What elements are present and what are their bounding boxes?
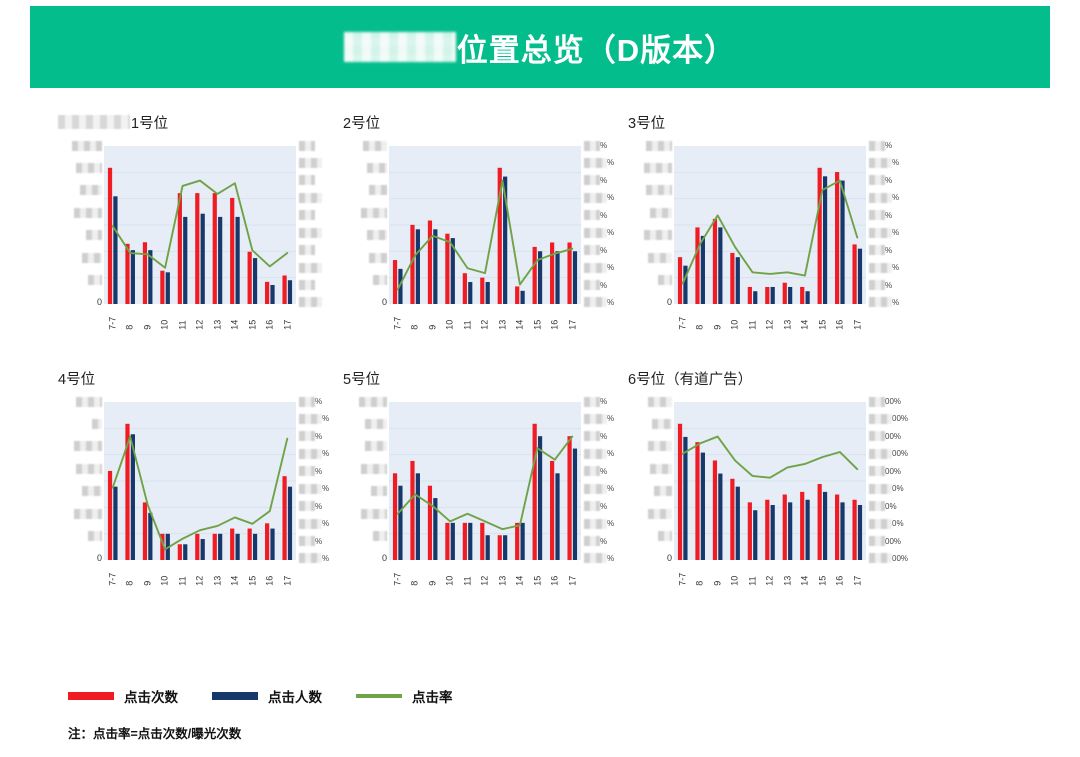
y-axis-left-pos2: 0 [343, 140, 387, 308]
chart-card-pos3: 3号位 0 %%%%%%%%%% 7-7891011121314151617 [628, 112, 913, 340]
redacted-mask [299, 484, 322, 494]
y-tick-redacted [76, 396, 102, 407]
y-tick-right-redacted: % [869, 210, 892, 221]
y-tick-redacted [74, 207, 102, 218]
y-tick-redacted [361, 207, 387, 218]
redacted-mask [646, 185, 672, 195]
y-tick-right-suffix: 00% [892, 553, 908, 564]
y-tick-right-suffix: % [600, 536, 607, 547]
y-tick-right-redacted: % [584, 483, 614, 494]
legend-swatch-rate [356, 694, 402, 698]
y-tick-right-redacted: % [584, 553, 614, 564]
x-tick-label: 17 [840, 570, 874, 587]
y-tick-right-suffix: 00% [892, 448, 908, 459]
y-tick-right-suffix: % [607, 553, 614, 564]
y-tick-right-suffix: 0% [885, 501, 897, 512]
y-tick-right-suffix: 00% [885, 431, 901, 442]
y-axis-right-pos5: %%%%%%%%%% [584, 396, 628, 564]
redacted-title-prefix [344, 32, 456, 62]
redacted-mask [584, 484, 607, 494]
redacted-mask [869, 484, 892, 494]
redacted-mask [80, 185, 102, 195]
legend-label-rate: 点击率 [412, 686, 453, 706]
redacted-mask [584, 414, 607, 424]
y-tick-right-redacted: 00% [869, 448, 908, 459]
chart-title-pos2-text: 2号位 [343, 112, 380, 133]
y-tick-right-suffix: % [322, 448, 329, 459]
y-tick-right-suffix: % [600, 210, 607, 221]
redacted-mask [584, 263, 607, 273]
redacted-mask [869, 449, 892, 459]
y-tick-redacted [658, 531, 672, 542]
redacted-mask [869, 466, 885, 476]
y-tick-redacted [652, 418, 672, 429]
y-tick-right-suffix: 0% [892, 518, 904, 529]
y-tick-right-redacted: % [584, 396, 607, 407]
redacted-mask [369, 185, 387, 195]
redacted-mask [869, 297, 892, 307]
y-tick-right-redacted: % [584, 227, 614, 238]
charts-grid: 1号位 0 7-7891011121314151617 2号位 0 %%%%%%… [58, 112, 1018, 596]
redacted-mask [584, 431, 600, 441]
y-tick-right-redacted: % [584, 140, 607, 151]
y-tick-right-redacted [299, 245, 315, 256]
y-tick-right-suffix: % [322, 413, 329, 424]
redacted-mask [869, 245, 885, 255]
redacted-mask [367, 230, 387, 240]
chart-title-pos1: 1号位 [58, 112, 343, 132]
redacted-mask [359, 397, 387, 407]
redacted-mask [299, 553, 322, 563]
chart-card-pos6: 6号位（有道广告） 0 00%00%00%00%00%0%0%0%00%00% … [628, 368, 913, 596]
redacted-mask [584, 397, 600, 407]
plot-area-pos3 [674, 146, 866, 304]
y-tick-right-redacted: 00% [869, 536, 901, 547]
redacted-mask [869, 519, 892, 529]
redacted-mask [361, 509, 387, 519]
y-tick-right-redacted: % [299, 553, 329, 564]
redacted-mask [648, 441, 672, 451]
y-tick-zero: 0 [97, 297, 102, 308]
y-tick-zero: 0 [382, 297, 387, 308]
y-tick-redacted [644, 230, 672, 241]
legend-item-users: 点击人数 [212, 686, 322, 706]
redacted-mask [373, 531, 387, 541]
chart-card-pos1: 1号位 0 7-7891011121314151617 [58, 112, 343, 340]
redacted-mask [584, 501, 600, 511]
y-tick-redacted [92, 418, 102, 429]
x-axis-pos1: 7-7891011121314151617 [104, 306, 296, 340]
y-tick-right-suffix: % [600, 501, 607, 512]
chart-title-pos4-text: 4号位 [58, 368, 95, 389]
redacted-mask [92, 419, 102, 429]
y-tick-right-suffix: % [885, 210, 892, 221]
redacted-mask [869, 141, 885, 151]
footnote: 注：点击率=点击次数/曝光次数 [68, 723, 241, 742]
y-tick-right-suffix: % [607, 262, 614, 273]
redacted-mask [584, 449, 607, 459]
y-tick-right-suffix: % [885, 140, 892, 151]
y-tick-redacted [367, 162, 387, 173]
y-tick-right-redacted: 00% [869, 431, 901, 442]
y-axis-right-pos6: 00%00%00%00%00%0%0%0%00%00% [869, 396, 913, 564]
y-axis-left-pos3: 0 [628, 140, 672, 308]
y-tick-redacted [646, 140, 672, 151]
y-tick-right-redacted: % [584, 175, 607, 186]
y-tick-right-suffix: % [892, 297, 899, 308]
y-tick-right-suffix: 00% [885, 466, 901, 477]
redacted-mask [299, 414, 322, 424]
legend-swatch-clicks [68, 692, 114, 700]
y-tick-redacted [658, 275, 672, 286]
y-tick-redacted [82, 252, 102, 263]
redacted-mask [584, 158, 607, 168]
y-tick-right-redacted: % [584, 413, 614, 424]
chart-legend: 点击次数 点击人数 点击率 [68, 686, 487, 706]
y-tick-right-redacted: 00% [869, 466, 901, 477]
y-tick-right-suffix: % [885, 245, 892, 256]
y-tick-redacted [72, 140, 102, 151]
y-tick-right-suffix: % [892, 157, 899, 168]
redacted-mask [367, 163, 387, 173]
redacted-mask [584, 193, 607, 203]
y-tick-right-redacted: 0% [869, 501, 897, 512]
y-tick-right-redacted: % [584, 262, 614, 273]
y-tick-right-suffix: % [607, 413, 614, 424]
redacted-mask [584, 175, 600, 185]
chart-pos1: 0 7-7891011121314151617 [58, 140, 343, 340]
y-tick-right-suffix: % [885, 280, 892, 291]
y-tick-right-redacted: % [869, 175, 892, 186]
y-tick-right-redacted: % [299, 396, 322, 407]
y-tick-right-suffix: % [600, 175, 607, 186]
redacted-mask [869, 193, 892, 203]
y-tick-right-suffix: % [892, 262, 899, 273]
plot-area-pos4 [104, 402, 296, 560]
redacted-mask [361, 464, 387, 474]
y-tick-redacted [373, 275, 387, 286]
report-page: 位置总览（D版本） 1号位 0 7-7891011121314151617 [0, 0, 1080, 757]
redacted-mask [299, 397, 315, 407]
redacted-mask [299, 536, 315, 546]
chart-pos6: 0 00%00%00%00%00%0%0%0%00%00% 7-78910111… [628, 396, 913, 596]
redacted-mask [299, 280, 315, 290]
y-tick-redacted [74, 508, 102, 519]
y-tick-right-redacted: % [869, 140, 892, 151]
redacted-mask [76, 163, 102, 173]
redacted-mask [869, 158, 892, 168]
chart-title-pos5: 5号位 [343, 368, 628, 388]
y-tick-right-redacted: 0% [869, 483, 904, 494]
plot-area-pos5 [389, 402, 581, 560]
y-tick-redacted [644, 162, 672, 173]
y-tick-right-suffix: % [600, 245, 607, 256]
y-tick-zero: 0 [667, 297, 672, 308]
y-tick-right-suffix: % [322, 483, 329, 494]
redacted-mask [74, 208, 102, 218]
y-tick-right-redacted: % [869, 192, 899, 203]
redacted-mask [646, 141, 672, 151]
y-tick-redacted [361, 463, 387, 474]
y-tick-redacted [74, 441, 102, 452]
redacted-mask [299, 175, 315, 185]
redacted-mask [584, 228, 607, 238]
plot-area-pos1 [104, 146, 296, 304]
y-tick-redacted [88, 275, 102, 286]
x-tick-label: 17 [840, 314, 874, 331]
redacted-mask [658, 275, 672, 285]
y-tick-right-redacted: % [869, 297, 899, 308]
legend-label-users: 点击人数 [268, 686, 322, 706]
y-tick-right-redacted: % [584, 245, 607, 256]
redacted-mask [299, 245, 315, 255]
y-tick-right-suffix: % [892, 192, 899, 203]
y-tick-redacted [369, 252, 387, 263]
redacted-mask [299, 501, 315, 511]
chart-pos5: 0 %%%%%%%%%% 7-7891011121314151617 [343, 396, 628, 596]
x-tick-label: 17 [555, 314, 589, 331]
y-tick-right-redacted [299, 227, 322, 238]
y-tick-right-redacted: % [299, 501, 322, 512]
chart-pos2: 0 %%%%%%%%%% 7-7891011121314151617 [343, 140, 628, 340]
redacted-mask [584, 141, 600, 151]
y-tick-right-redacted: % [869, 262, 899, 273]
redacted-mask [88, 275, 102, 285]
y-tick-right-redacted [299, 210, 315, 221]
y-tick-right-suffix: % [315, 501, 322, 512]
redacted-mask [74, 441, 102, 451]
chart-title-pos1-text: 1号位 [131, 112, 168, 133]
y-tick-right-suffix: % [607, 227, 614, 238]
redacted-mask [299, 297, 322, 307]
y-tick-redacted [359, 396, 387, 407]
y-tick-right-redacted: 00% [869, 396, 901, 407]
y-tick-right-suffix: % [315, 431, 322, 442]
y-tick-right-suffix: % [607, 518, 614, 529]
y-tick-right-redacted: % [299, 431, 322, 442]
page-title: 位置总览（D版本） [344, 25, 736, 70]
redacted-mask [648, 253, 672, 263]
y-tick-redacted [648, 441, 672, 452]
y-tick-right-redacted [299, 297, 322, 308]
y-tick-right-suffix: 00% [892, 413, 908, 424]
y-tick-right-redacted: % [584, 501, 607, 512]
y-tick-right-redacted [299, 157, 322, 168]
y-tick-redacted [361, 508, 387, 519]
chart-title-pos4: 4号位 [58, 368, 343, 388]
chart-title-pos3-text: 3号位 [628, 112, 665, 133]
x-axis-pos3: 7-7891011121314151617 [674, 306, 866, 340]
y-tick-right-suffix: 00% [885, 396, 901, 407]
legend-item-rate: 点击率 [356, 686, 453, 706]
redacted-mask [299, 449, 322, 459]
page-title-text: 位置总览（D版本） [457, 25, 736, 70]
redacted-mask [86, 230, 102, 240]
y-tick-redacted [76, 162, 102, 173]
y-tick-redacted [650, 463, 672, 474]
page-header-banner: 位置总览（D版本） [30, 6, 1050, 88]
redacted-mask [869, 431, 885, 441]
y-tick-right-suffix: % [315, 536, 322, 547]
y-tick-right-redacted: % [299, 536, 322, 547]
y-tick-redacted [648, 508, 672, 519]
redacted-mask [584, 536, 600, 546]
y-tick-redacted [648, 396, 672, 407]
y-axis-right-pos4: %%%%%%%%%% [299, 396, 343, 564]
y-tick-redacted [369, 185, 387, 196]
chart-card-pos2: 2号位 0 %%%%%%%%%% 7-7891011121314151617 [343, 112, 628, 340]
redacted-mask [658, 531, 672, 541]
redacted-mask [644, 163, 672, 173]
x-tick-label: 17 [270, 314, 304, 331]
y-axis-left-pos6: 0 [628, 396, 672, 564]
y-axis-left-pos4: 0 [58, 396, 102, 564]
redacted-mask [72, 141, 102, 151]
redacted-mask [299, 193, 322, 203]
y-tick-right-redacted: % [869, 227, 899, 238]
y-tick-right-redacted: % [584, 518, 614, 529]
y-tick-right-suffix: % [607, 157, 614, 168]
redacted-mask [371, 486, 387, 496]
y-tick-right-suffix: % [892, 227, 899, 238]
redacted-mask [365, 419, 387, 429]
redacted-mask [361, 208, 387, 218]
y-tick-right-redacted [299, 262, 322, 273]
y-tick-redacted [363, 140, 387, 151]
chart-card-pos4: 4号位 0 %%%%%%%%%% 7-7891011121314151617 [58, 368, 343, 596]
y-tick-right-redacted: % [299, 466, 322, 477]
y-tick-right-redacted: % [584, 466, 607, 477]
y-tick-redacted [86, 230, 102, 241]
y-tick-right-redacted: % [584, 297, 614, 308]
redacted-mask [584, 210, 600, 220]
y-tick-right-suffix: % [607, 192, 614, 203]
redacted-mask [652, 419, 672, 429]
y-tick-right-redacted: % [869, 157, 899, 168]
redacted-mask [88, 531, 102, 541]
y-tick-redacted [76, 463, 102, 474]
redacted-mask [584, 297, 607, 307]
redacted-mask [74, 509, 102, 519]
legend-item-clicks: 点击次数 [68, 686, 178, 706]
y-tick-zero: 0 [382, 553, 387, 564]
redacted-mask [869, 414, 892, 424]
plot-area-pos2 [389, 146, 581, 304]
redacted-mask [584, 466, 600, 476]
y-tick-right-suffix: % [322, 553, 329, 564]
y-tick-redacted [371, 486, 387, 497]
redacted-mask [76, 464, 102, 474]
x-axis-pos2: 7-7891011121314151617 [389, 306, 581, 340]
charts-row-1: 1号位 0 7-7891011121314151617 2号位 0 %%%%%%… [58, 112, 1018, 340]
redacted-mask [584, 280, 600, 290]
redacted-mask [369, 253, 387, 263]
y-tick-right-suffix: 00% [885, 536, 901, 547]
charts-row-2: 4号位 0 %%%%%%%%%% 7-7891011121314151617 5… [58, 368, 1018, 596]
y-tick-redacted [648, 252, 672, 263]
plot-area-pos6 [674, 402, 866, 560]
y-tick-redacted [365, 418, 387, 429]
redacted-mask [869, 228, 892, 238]
y-tick-right-redacted [299, 280, 315, 291]
redacted-mask [82, 253, 102, 263]
redacted-mask [650, 464, 672, 474]
redacted-chart-title-prefix [58, 115, 130, 129]
y-tick-right-redacted: % [299, 448, 329, 459]
y-tick-right-suffix: % [600, 140, 607, 151]
y-tick-right-suffix: % [607, 297, 614, 308]
y-tick-right-suffix: % [607, 448, 614, 459]
chart-title-pos6: 6号位（有道广告） [628, 368, 913, 388]
y-tick-zero: 0 [97, 553, 102, 564]
chart-title-pos5-text: 5号位 [343, 368, 380, 389]
y-tick-right-redacted: % [584, 431, 607, 442]
y-axis-right-pos1 [299, 140, 343, 308]
y-tick-right-redacted [299, 192, 322, 203]
y-tick-right-suffix: % [315, 396, 322, 407]
y-tick-zero: 0 [667, 553, 672, 564]
redacted-mask [869, 175, 885, 185]
y-tick-right-redacted: % [584, 210, 607, 221]
chart-pos4: 0 %%%%%%%%%% 7-7891011121314151617 [58, 396, 343, 596]
redacted-mask [299, 158, 322, 168]
chart-title-pos6-text: 6号位（有道广告） [628, 368, 752, 389]
redacted-mask [648, 509, 672, 519]
chart-card-pos5: 5号位 0 %%%%%%%%%% 7-7891011121314151617 [343, 368, 628, 596]
y-axis-right-pos3: %%%%%%%%%% [869, 140, 913, 308]
y-tick-right-redacted: % [299, 413, 329, 424]
redacted-mask [365, 441, 387, 451]
redacted-mask [584, 553, 607, 563]
y-tick-right-redacted: 00% [869, 413, 908, 424]
y-tick-right-redacted: 00% [869, 553, 908, 564]
y-tick-redacted [646, 185, 672, 196]
y-tick-redacted [367, 230, 387, 241]
y-tick-right-suffix: % [315, 466, 322, 477]
y-tick-redacted [654, 486, 672, 497]
y-tick-right-suffix: % [885, 175, 892, 186]
y-tick-right-suffix: % [600, 280, 607, 291]
redacted-mask [299, 519, 322, 529]
y-tick-right-suffix: % [322, 518, 329, 529]
redacted-mask [650, 208, 672, 218]
x-tick-label: 17 [555, 570, 589, 587]
y-tick-right-redacted: % [869, 280, 892, 291]
redacted-mask [869, 210, 885, 220]
chart-pos3: 0 %%%%%%%%%% 7-7891011121314151617 [628, 140, 913, 340]
y-tick-right-redacted [299, 175, 315, 186]
y-tick-right-redacted: % [584, 536, 607, 547]
redacted-mask [82, 486, 102, 496]
redacted-mask [299, 141, 315, 151]
redacted-mask [299, 431, 315, 441]
y-tick-right-redacted: % [299, 483, 329, 494]
y-tick-redacted [365, 441, 387, 452]
y-axis-right-pos2: %%%%%%%%%% [584, 140, 628, 308]
y-tick-right-redacted: 0% [869, 518, 904, 529]
y-tick-redacted [650, 207, 672, 218]
redacted-mask [869, 397, 885, 407]
legend-label-clicks: 点击次数 [124, 686, 178, 706]
chart-title-pos3: 3号位 [628, 112, 913, 132]
y-tick-right-redacted: % [584, 448, 614, 459]
redacted-mask [584, 519, 607, 529]
redacted-mask [76, 397, 102, 407]
y-tick-redacted [373, 531, 387, 542]
y-tick-right-suffix: % [600, 396, 607, 407]
redacted-mask [363, 141, 387, 151]
chart-title-pos2: 2号位 [343, 112, 628, 132]
